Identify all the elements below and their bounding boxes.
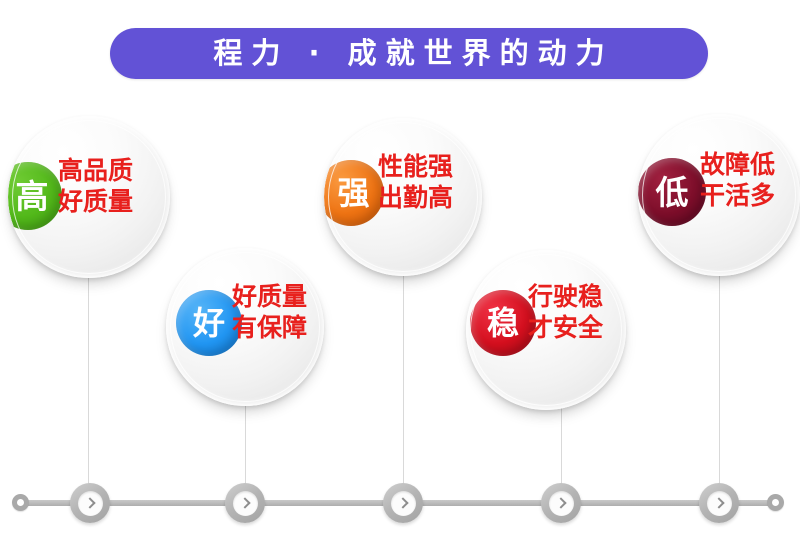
feature-text: 好质量 有保障 bbox=[232, 282, 307, 343]
node-core bbox=[549, 491, 574, 516]
feature-line-2: 干活多 bbox=[700, 181, 775, 212]
feature-bubble-stable-driving[interactable]: 稳 行驶稳 才安全 bbox=[466, 250, 626, 410]
feature-text: 故障低 干活多 bbox=[700, 150, 775, 211]
feature-text: 高品质 好质量 bbox=[58, 156, 133, 217]
badge-stable: 稳 bbox=[470, 290, 536, 356]
bubble-surface: 稳 行驶稳 才安全 bbox=[466, 250, 626, 410]
badge-label: 稳 bbox=[487, 307, 519, 339]
connector-stem-1 bbox=[88, 268, 89, 496]
timeline-node-5[interactable] bbox=[699, 483, 739, 523]
feature-line-2: 出勤高 bbox=[378, 183, 453, 214]
connector-stem-2 bbox=[245, 398, 246, 496]
chevron-right-icon bbox=[397, 497, 408, 508]
badge-label: 强 bbox=[337, 177, 369, 209]
badge-label: 高 bbox=[16, 180, 49, 213]
timeline-node-1[interactable] bbox=[70, 483, 110, 523]
page-title: 程力 · 成就世界的动力 bbox=[204, 39, 613, 68]
feature-line-2: 有保障 bbox=[232, 313, 307, 344]
connector-stem-4 bbox=[561, 402, 562, 496]
timeline-node-2[interactable] bbox=[225, 483, 265, 523]
feature-line-2: 才安全 bbox=[528, 313, 603, 344]
feature-bubble-low-failure[interactable]: 低 故障低 干活多 bbox=[638, 114, 800, 276]
badge-label: 好 bbox=[193, 307, 225, 339]
chevron-right-icon bbox=[84, 497, 95, 508]
node-core bbox=[78, 491, 103, 516]
feature-line-1: 性能强 bbox=[378, 152, 453, 183]
bubble-surface: 高 高品质 好质量 bbox=[8, 116, 170, 278]
feature-text: 行驶稳 才安全 bbox=[528, 282, 603, 343]
connector-stem-5 bbox=[719, 266, 720, 496]
feature-line-1: 高品质 bbox=[58, 156, 133, 187]
feature-bubble-good-quality[interactable]: 好 好质量 有保障 bbox=[166, 248, 324, 406]
chevron-right-icon bbox=[239, 497, 250, 508]
title-banner: 程力 · 成就世界的动力 bbox=[110, 28, 708, 79]
feature-line-1: 好质量 bbox=[232, 282, 307, 313]
chevron-right-icon bbox=[555, 497, 566, 508]
node-core bbox=[233, 491, 258, 516]
timeline-end-cap-left bbox=[12, 494, 29, 511]
badge-high: 高 bbox=[8, 162, 62, 230]
chevron-right-icon bbox=[713, 497, 724, 508]
bubble-surface: 强 性能强 出勤高 bbox=[324, 118, 482, 276]
timeline-node-4[interactable] bbox=[541, 483, 581, 523]
badge-strong: 强 bbox=[324, 160, 384, 226]
feature-text: 性能强 出勤高 bbox=[378, 152, 453, 213]
feature-line-2: 好质量 bbox=[58, 187, 133, 218]
feature-bubble-strong-performance[interactable]: 强 性能强 出勤高 bbox=[324, 118, 482, 276]
feature-line-1: 故障低 bbox=[700, 150, 775, 181]
infographic-canvas: 程力 · 成就世界的动力 高 高品质 好质量 好 好质量 有保障 bbox=[0, 0, 800, 536]
bubble-surface: 低 故障低 干活多 bbox=[638, 114, 800, 276]
connector-stem-3 bbox=[403, 268, 404, 496]
node-core bbox=[707, 491, 732, 516]
bubble-surface: 好 好质量 有保障 bbox=[166, 248, 324, 406]
timeline-node-3[interactable] bbox=[383, 483, 423, 523]
badge-low: 低 bbox=[638, 158, 706, 226]
feature-line-1: 行驶稳 bbox=[528, 282, 603, 313]
badge-label: 低 bbox=[656, 176, 689, 209]
timeline-end-cap-right bbox=[767, 494, 784, 511]
node-core bbox=[391, 491, 416, 516]
feature-bubble-high-quality[interactable]: 高 高品质 好质量 bbox=[8, 116, 170, 278]
